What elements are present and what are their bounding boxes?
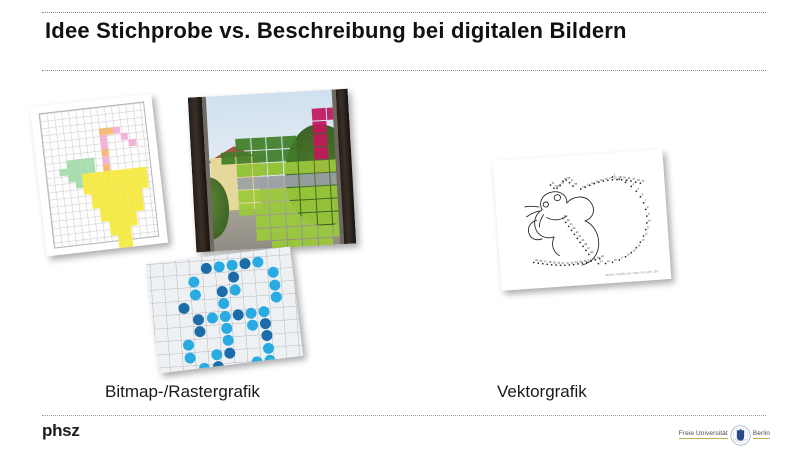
connect-dot-number: 47	[588, 258, 592, 262]
fu-berlin-logo: Freie Universität Berlin	[679, 424, 770, 446]
connect-dot-number: 15	[632, 248, 636, 252]
connect-dot-number: 66	[584, 242, 588, 246]
postit-note	[237, 177, 253, 190]
postit-note	[311, 108, 327, 121]
connect-dot-number: 20	[599, 259, 603, 263]
pixel-cell	[130, 218, 138, 226]
connect-dot-number: 68	[590, 250, 594, 254]
postit-note	[318, 238, 334, 251]
page-title: Idee Stichprobe vs. Beschreibung bei dig…	[45, 18, 627, 44]
postit-note	[268, 175, 284, 188]
postit-note	[302, 226, 318, 239]
postit-note	[285, 187, 301, 200]
postit-note	[236, 151, 252, 164]
connect-dot-number: 12	[645, 232, 649, 236]
pixel-cell	[141, 181, 149, 189]
postit-note	[237, 164, 253, 177]
pixel-cell	[119, 248, 127, 256]
connect-dot-number: 62	[573, 226, 577, 230]
connect-dot-number: 10	[648, 218, 652, 222]
postit-note	[267, 149, 283, 162]
postit-note	[271, 227, 287, 240]
image-window-postit-cocktail	[188, 89, 356, 253]
postit-note	[285, 200, 301, 213]
connect-dot-number: 44	[575, 260, 579, 264]
postit-note	[238, 190, 254, 203]
connect-dot-number: 38	[548, 260, 552, 264]
pixel-cell	[126, 248, 134, 256]
caption-vector: Vektorgrafik	[497, 382, 587, 402]
connect-dot-number: 25	[600, 178, 604, 182]
postit-note	[287, 226, 303, 239]
connect-dot-number: 9	[648, 212, 650, 216]
postit-note	[315, 186, 331, 199]
postit-note	[312, 121, 328, 134]
connect-dot-number: 17	[620, 255, 624, 259]
fu-logo-left-word: Freie Universität	[679, 431, 728, 440]
divider-under-title	[42, 70, 766, 71]
pixel-cell	[142, 253, 150, 256]
pixel-cell	[134, 254, 142, 257]
postit-note	[251, 137, 267, 150]
postit-note	[254, 189, 270, 202]
postit-note	[313, 147, 329, 160]
connect-dot-number: 33	[637, 178, 641, 182]
connect-dot-number: 46	[584, 259, 588, 263]
connect-dot-number: 61	[570, 222, 574, 226]
connect-dot-number: 24	[595, 179, 599, 183]
postit-note	[269, 188, 285, 201]
pixel-cell	[113, 126, 121, 134]
pixel-cell	[121, 132, 129, 140]
postit-note	[255, 215, 271, 228]
connect-dot-number: 60	[567, 218, 571, 222]
connect-dot-number: 58	[574, 182, 578, 186]
connect-dot-number: 28	[614, 175, 618, 179]
connect-dot-number: 48	[592, 257, 596, 261]
postit-note	[303, 239, 319, 252]
connect-dot-number: 13	[641, 238, 645, 242]
pixel-cell	[120, 256, 128, 257]
connect-dot-number: 40	[557, 261, 561, 265]
postit-note	[270, 201, 286, 214]
postit-note	[282, 149, 298, 162]
connect-dot-number: 36	[539, 259, 543, 263]
connect-dot-number: 41	[562, 261, 566, 265]
postit-note	[299, 174, 315, 187]
connect-dot-number: 42	[566, 261, 570, 265]
postit-note	[304, 252, 320, 253]
magnet-dot	[206, 312, 218, 324]
fu-logo-right-word: Berlin	[753, 431, 770, 440]
connect-dot-number: 26	[604, 177, 608, 181]
connect-dot-number: 32	[632, 177, 636, 181]
pixel-cell	[129, 139, 137, 147]
postit-note	[313, 134, 329, 147]
connect-dot-number: 67	[587, 246, 591, 250]
postit-note	[220, 152, 236, 165]
postit-note	[256, 228, 272, 241]
connect-dot-number: 11	[647, 225, 651, 229]
pixel-cell	[127, 255, 135, 257]
postit-note	[235, 138, 251, 151]
pixel-cell	[126, 240, 134, 248]
connect-dot-number: 34	[641, 179, 645, 183]
connect-dot-number: 64	[578, 234, 582, 238]
postit-note	[318, 225, 334, 238]
postit-note	[319, 251, 335, 253]
postit-note	[286, 213, 302, 226]
postit-note	[316, 199, 332, 212]
caption-bitmap: Bitmap-/Rastergrafik	[105, 382, 260, 402]
connect-dot-number: 14	[637, 243, 641, 247]
fu-seal-icon	[730, 425, 751, 446]
connect-dot-number: 18	[614, 258, 618, 262]
slide-canvas: Idee Stichprobe vs. Beschreibung bei dig…	[0, 0, 800, 450]
postit-note	[300, 187, 316, 200]
postit-note	[239, 203, 255, 216]
connect-dot-number: 63	[575, 230, 579, 234]
postit-note	[270, 214, 286, 227]
connect-dot-number: 43	[570, 260, 574, 264]
postit-note	[254, 202, 270, 215]
postit-note	[253, 176, 269, 189]
connect-dot-number: 19	[607, 259, 611, 263]
postit-note	[252, 163, 268, 176]
connect-dot-number: 31	[627, 176, 631, 180]
divider-top	[42, 12, 766, 13]
connect-dot-number: 50	[601, 254, 605, 258]
postit-note	[282, 136, 298, 149]
connect-dot-number: 7	[645, 198, 647, 202]
connect-dot-number: 49	[597, 255, 601, 259]
connect-dot-number: 45	[579, 259, 583, 263]
postit-note	[301, 200, 317, 213]
postit-note	[284, 175, 300, 188]
magnet-dot	[251, 356, 263, 368]
connect-dot-number: 35	[535, 258, 539, 262]
postit-note	[314, 160, 330, 173]
connect-dot-number: 8	[647, 205, 649, 209]
image-dot-to-dot-squirrel: 1234567891011121314151617181920212223242…	[493, 149, 672, 291]
connect-dot-number: 5	[637, 187, 639, 191]
postit-note	[301, 213, 317, 226]
postit-note	[299, 161, 315, 174]
image-graph-paper-cocktail	[30, 94, 168, 257]
connect-dot-number: 6	[642, 192, 644, 196]
window-scene	[188, 89, 356, 253]
postit-note	[266, 136, 282, 149]
magnet-dot	[212, 361, 224, 373]
connect-dot-number: 37	[544, 259, 548, 263]
postit-note	[251, 150, 267, 163]
image-blue-dot-grid	[146, 247, 303, 374]
connect-dot-number: 39	[553, 260, 557, 264]
postit-note	[268, 162, 284, 175]
pixel-cell	[136, 203, 144, 211]
postit-note	[315, 173, 331, 186]
connect-dot-number: 54	[561, 181, 565, 185]
connect-dot-number: 57	[571, 178, 575, 182]
footer-brand: phsz	[42, 421, 80, 441]
divider-footer	[42, 415, 766, 416]
connect-dot-number: 16	[627, 252, 631, 256]
postit-note	[283, 162, 299, 175]
connect-dot-number: 65	[581, 238, 585, 242]
postit-note	[317, 212, 333, 225]
connect-dot-number: 30	[623, 175, 627, 179]
connect-dot-number: 4	[632, 182, 634, 186]
